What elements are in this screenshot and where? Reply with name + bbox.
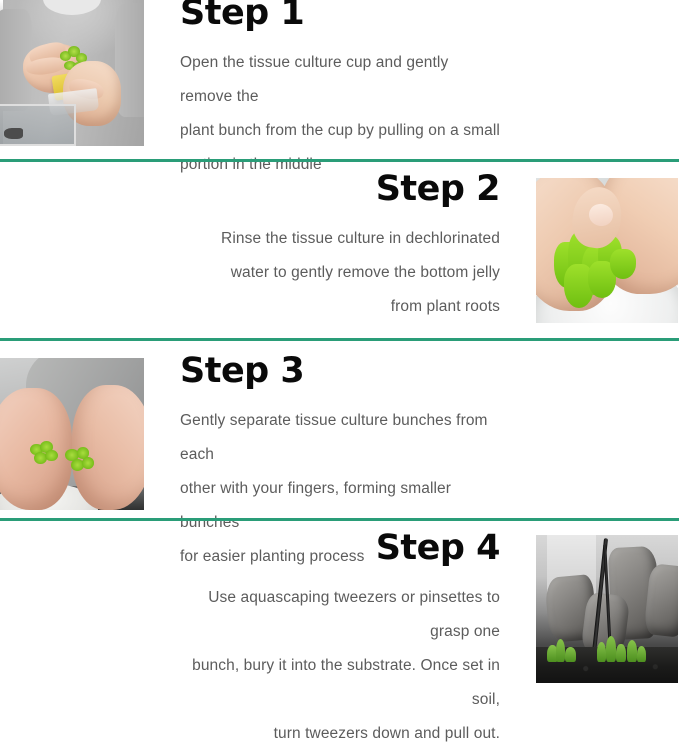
- plant-bunch-right-icon: [65, 446, 97, 473]
- instruction-steps-page: Step 1 Open the tissue culture cup and g…: [0, 0, 679, 683]
- step-3-photo-illustration: [0, 358, 144, 510]
- step-4-line-1: Use aquascaping tweezers or pinsettes to…: [180, 581, 500, 649]
- step-4-photo-illustration: [536, 535, 678, 683]
- step-1-photo-illustration: [0, 0, 144, 146]
- step-4-line-2: bunch, bury it into the substrate. Once …: [180, 649, 500, 717]
- step-4-line-3: turn tweezers down and pull out.: [180, 717, 500, 751]
- planted-bunches-icon: [545, 624, 676, 662]
- step-2-text-column: Step 2 Rinse the tissue culture in dechl…: [180, 170, 500, 324]
- step-3-heading: Step 3: [180, 352, 500, 390]
- step-3-line-1: Gently separate tissue culture bunches f…: [180, 404, 500, 472]
- step-4-text-column: Step 4 Use aquascaping tweezers or pinse…: [180, 529, 500, 751]
- step-block-1: Step 1 Open the tissue culture cup and g…: [0, 0, 679, 160]
- step-2-heading: Step 2: [180, 170, 500, 208]
- step-block-3: Step 3 Gently separate tissue culture bu…: [0, 341, 679, 518]
- step-1-line-2: plant bunch from the cup by pulling on a…: [180, 114, 500, 148]
- step-4-heading: Step 4: [180, 529, 500, 567]
- step-1-line-1: Open the tissue culture cup and gently r…: [180, 46, 500, 114]
- step-2-photo-illustration: [536, 178, 678, 323]
- step-1-text-column: Step 1 Open the tissue culture cup and g…: [180, 0, 500, 182]
- plant-bunch-left-icon: [29, 440, 61, 467]
- step-block-4: Step 4 Use aquascaping tweezers or pinse…: [0, 521, 679, 683]
- step-4-photo: [536, 535, 678, 683]
- step-1-heading: Step 1: [180, 0, 500, 32]
- step-2-line-1: Rinse the tissue culture in dechlorinate…: [180, 222, 500, 256]
- step-2-line-2: water to gently remove the bottom jelly: [180, 256, 500, 290]
- step-1-photo: [0, 0, 144, 146]
- step-block-2: Step 2 Rinse the tissue culture in dechl…: [0, 162, 679, 338]
- step-2-line-3: from plant roots: [180, 290, 500, 324]
- step-2-photo: [536, 178, 678, 323]
- step-3-photo: [0, 358, 144, 510]
